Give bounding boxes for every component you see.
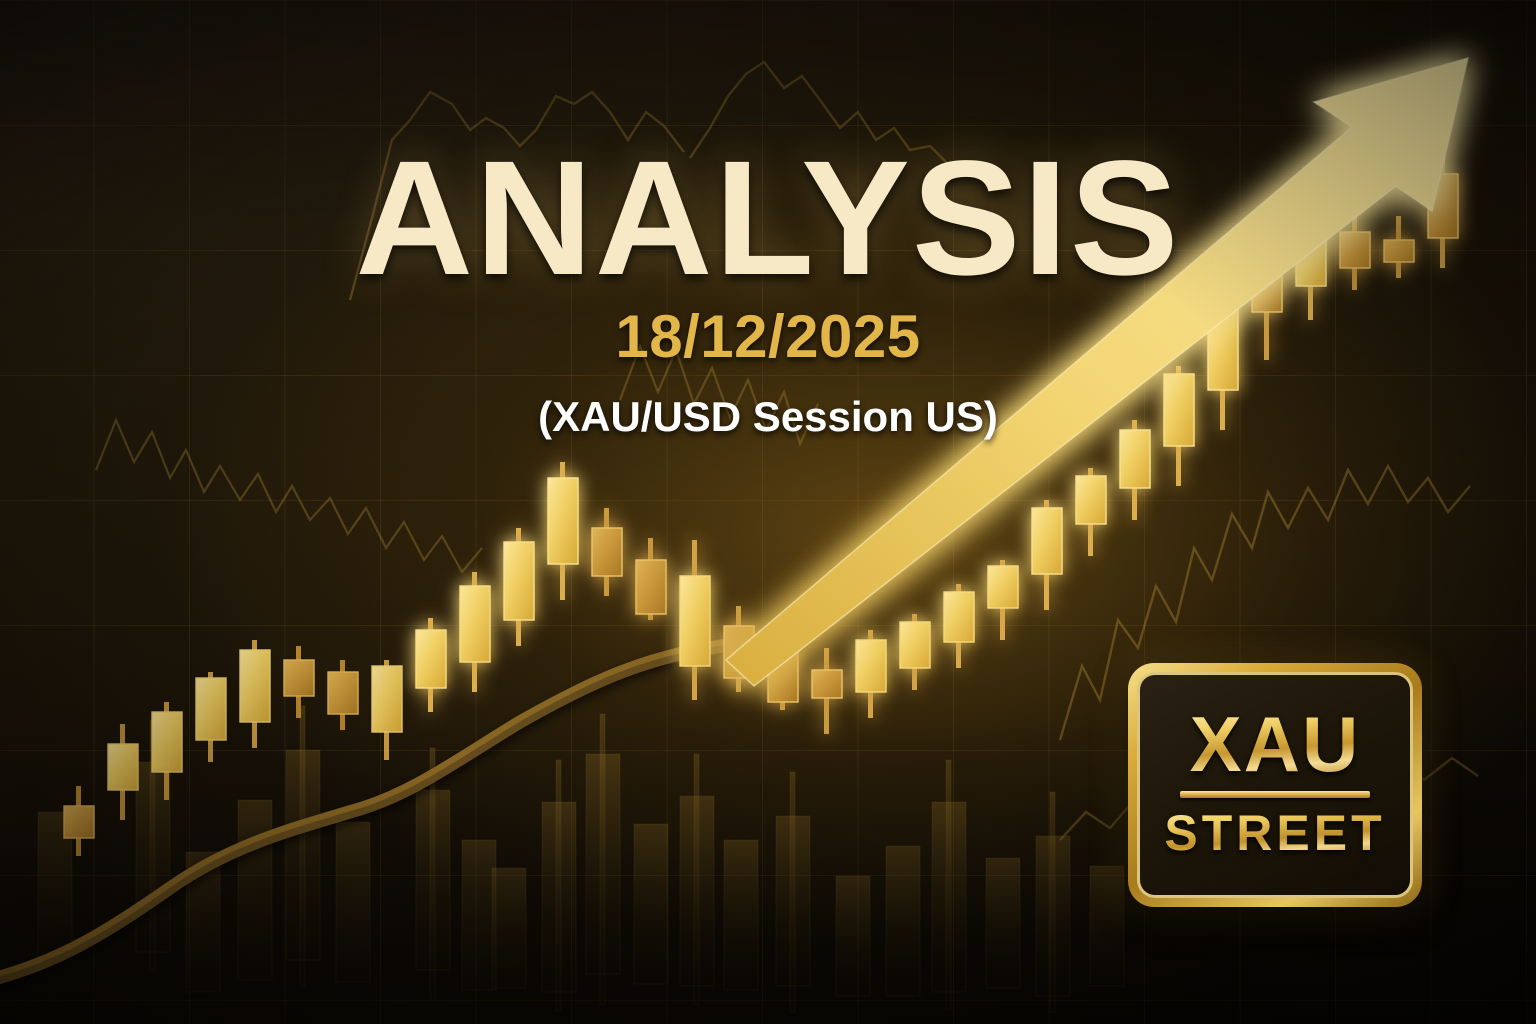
logo-xau-text: XAU	[1190, 708, 1361, 781]
banner-canvas: ANALYSIS 18/12/2025 (XAU/USD Session US)…	[0, 0, 1536, 1024]
analysis-date: 18/12/2025	[0, 307, 1536, 367]
logo-street-text: STREET	[1164, 808, 1385, 858]
logo-divider	[1180, 791, 1370, 798]
page-title: ANALYSIS	[0, 136, 1536, 299]
page-subtitle: (XAU/USD Session US)	[0, 396, 1536, 438]
xau-street-logo[interactable]: XAU STREET	[1128, 663, 1422, 907]
logo-inner-frame: XAU STREET	[1137, 672, 1413, 898]
